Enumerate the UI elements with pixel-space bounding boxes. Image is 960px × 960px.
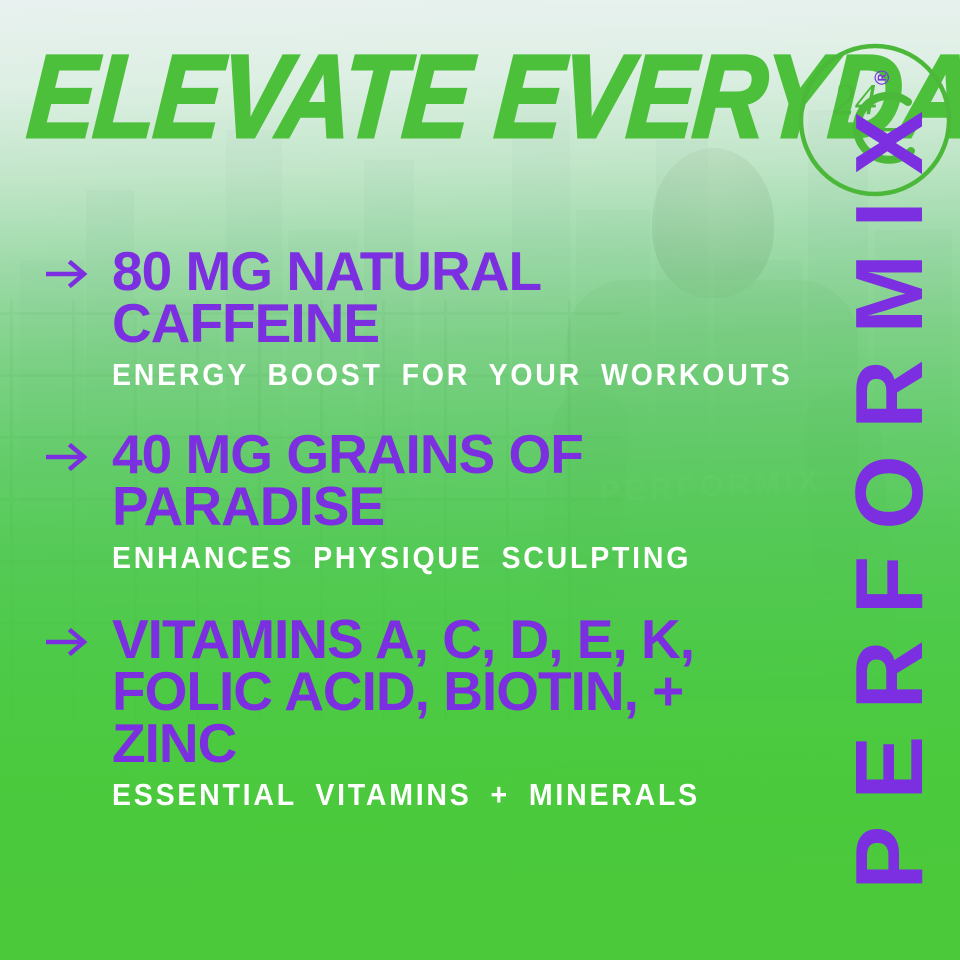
feature-subtitle: ENHANCES PHYSIQUE SCULPTING: [112, 541, 763, 575]
feature-list: 80 MG NATURAL CAFFEINE ENERGY BOOST FOR …: [0, 245, 820, 822]
list-item: VITAMINS A, C, D, E, K, FOLIC ACID, BIOT…: [0, 613, 820, 812]
content-layer: ELEVATE EVERYDAY 24 7 PERFORMIX® 80 MG N…: [0, 0, 960, 960]
registered-trademark-icon: ®: [872, 70, 894, 85]
brand-wordmark-wrap: PERFORMIX®: [820, 0, 960, 960]
feature-title: 40 MG GRAINS OF PARADISE: [112, 428, 792, 532]
feature-title: VITAMINS A, C, D, E, K, FOLIC ACID, BIOT…: [112, 613, 792, 769]
arrow-right-icon: [46, 627, 88, 657]
list-item: 80 MG NATURAL CAFFEINE ENERGY BOOST FOR …: [0, 245, 820, 392]
feature-subtitle: ESSENTIAL VITAMINS + MINERALS: [112, 778, 763, 812]
arrow-right-icon: [46, 442, 88, 472]
promo-graphic: PERFORMIX ELEVATE EVERYDAY: [0, 0, 960, 960]
feature-title: 80 MG NATURAL CAFFEINE: [112, 245, 792, 349]
feature-subtitle: ENERGY BOOST FOR YOUR WORKOUTS: [112, 358, 763, 392]
brand-name: PERFORMIX: [836, 85, 943, 890]
brand-wordmark: PERFORMIX®: [842, 70, 938, 889]
list-item: 40 MG GRAINS OF PARADISE ENHANCES PHYSIQ…: [0, 428, 820, 575]
arrow-right-icon: [46, 259, 88, 289]
